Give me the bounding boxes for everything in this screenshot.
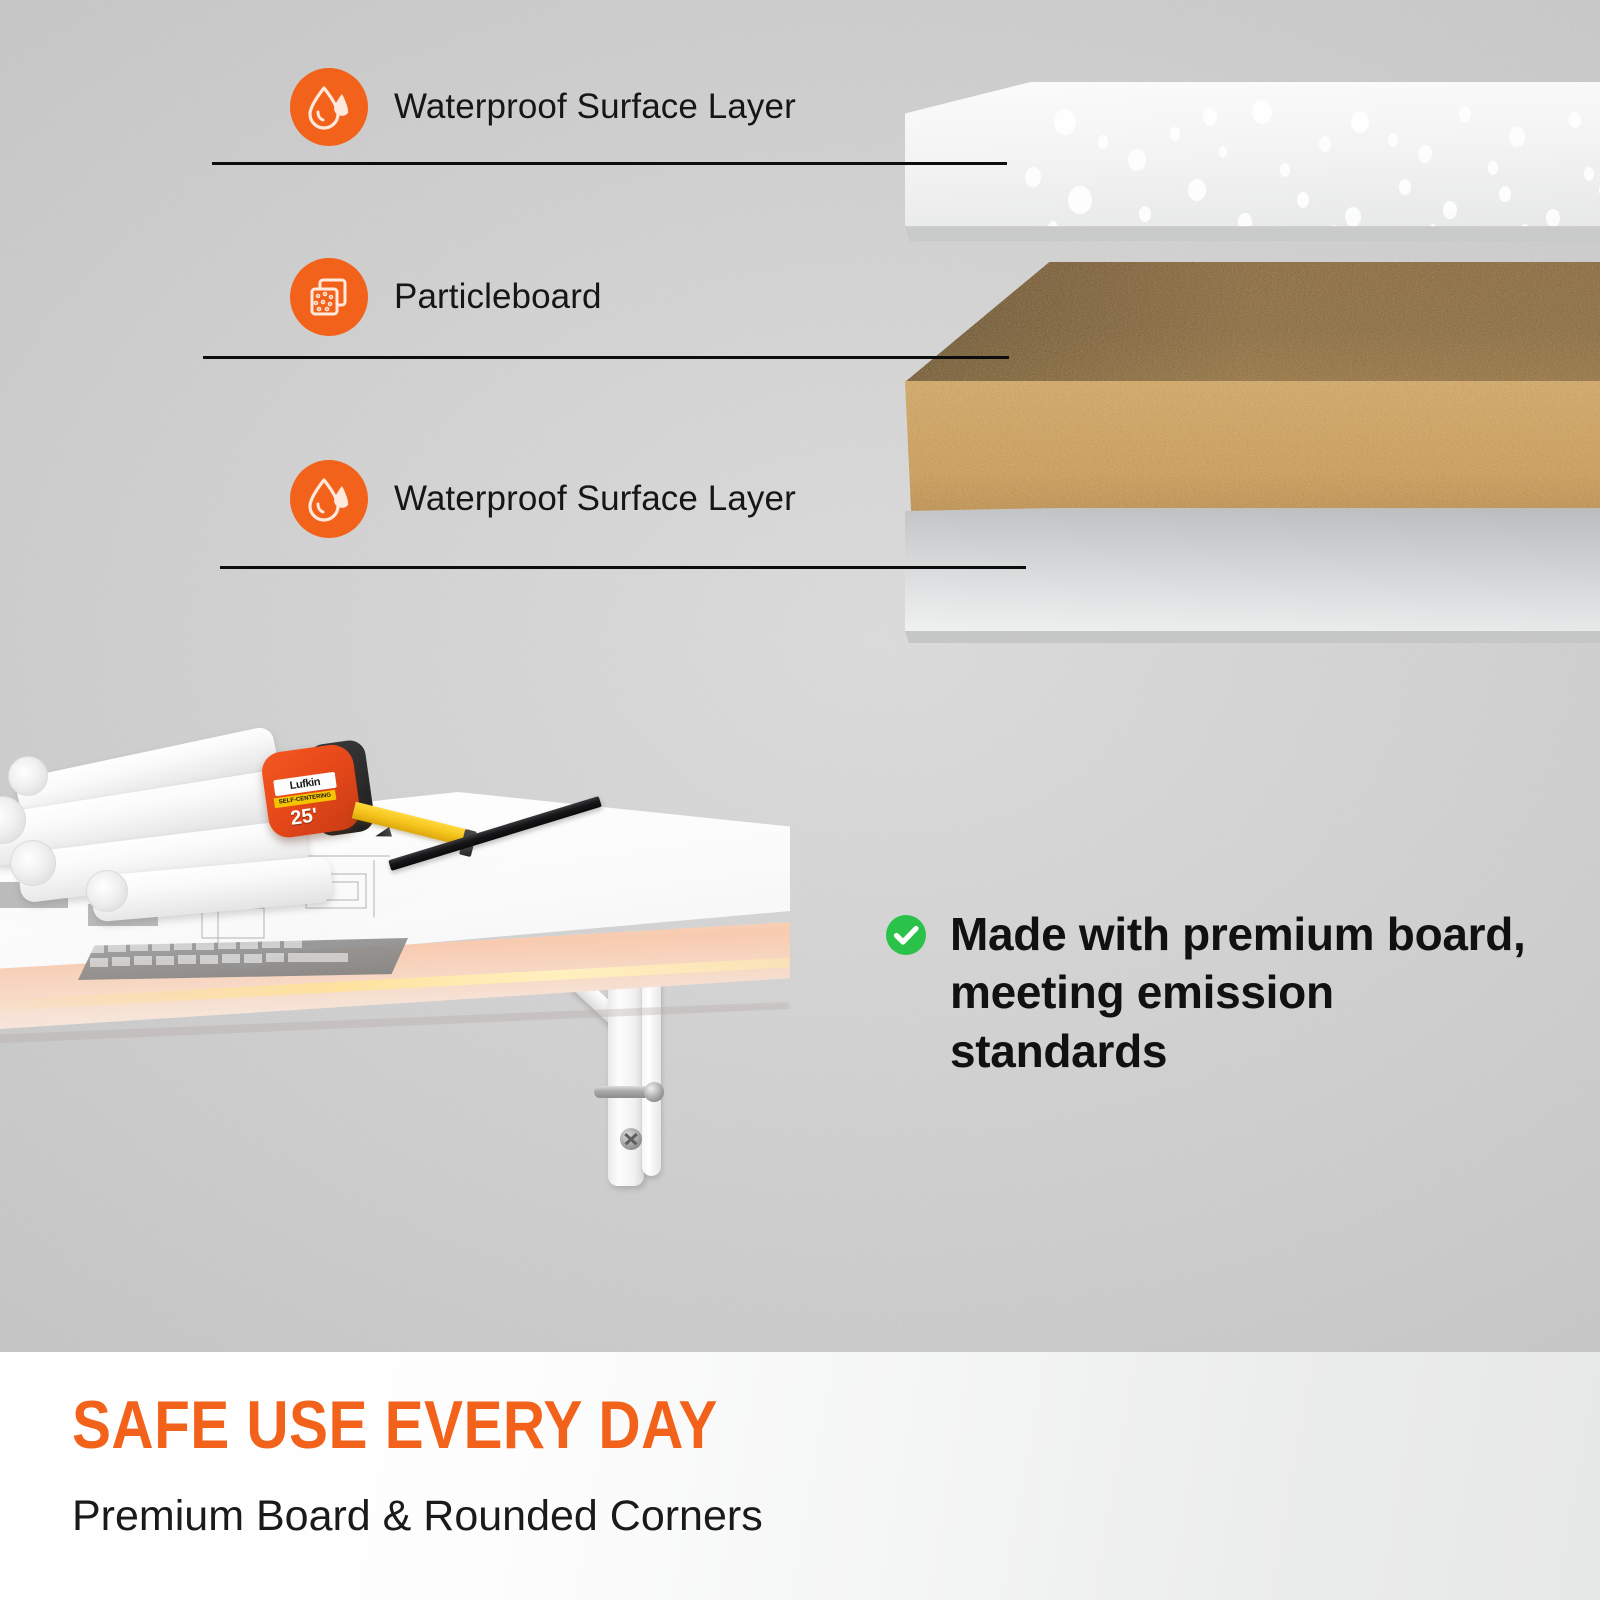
feature-text: Made with premium board, meeting emissio… [950, 905, 1530, 1080]
water-drop-icon [290, 68, 368, 146]
callout-top-waterproof: Waterproof Surface Layer [290, 68, 796, 146]
callout-label: Particleboard [394, 277, 602, 317]
particleboard-icon [290, 258, 368, 336]
leader-line-bottom [220, 566, 1026, 569]
infographic-stage: Waterproof Surface Layer Particleboard [0, 0, 1600, 1600]
feature-callout: Made with premium board, meeting emissio… [884, 905, 1530, 1080]
leader-line-middle [203, 356, 1009, 359]
particle-texture-front [905, 381, 1600, 511]
callout-bottom-waterproof: Waterproof Surface Layer [290, 460, 796, 538]
banner-title: SAFE USE EVERY DAY [72, 1386, 718, 1464]
bottom-banner: SAFE USE EVERY DAY Premium Board & Round… [0, 1352, 1600, 1600]
banner-subtitle: Premium Board & Rounded Corners [72, 1492, 763, 1541]
callout-label: Waterproof Surface Layer [394, 87, 796, 127]
water-drop-icon [290, 460, 368, 538]
leader-line-top [212, 162, 1007, 165]
blueprint-roll-cap [10, 840, 56, 886]
blueprint-roll-cap [8, 756, 48, 796]
product-photo-desk: Lufkin SELF-CENTERING 25' [0, 700, 820, 1220]
particleboard-front-edge [905, 381, 1600, 511]
blueprint-roll-cap [86, 870, 128, 912]
green-check-icon [884, 913, 928, 957]
callout-particleboard: Particleboard [290, 258, 602, 336]
callout-label: Waterproof Surface Layer [394, 479, 796, 519]
